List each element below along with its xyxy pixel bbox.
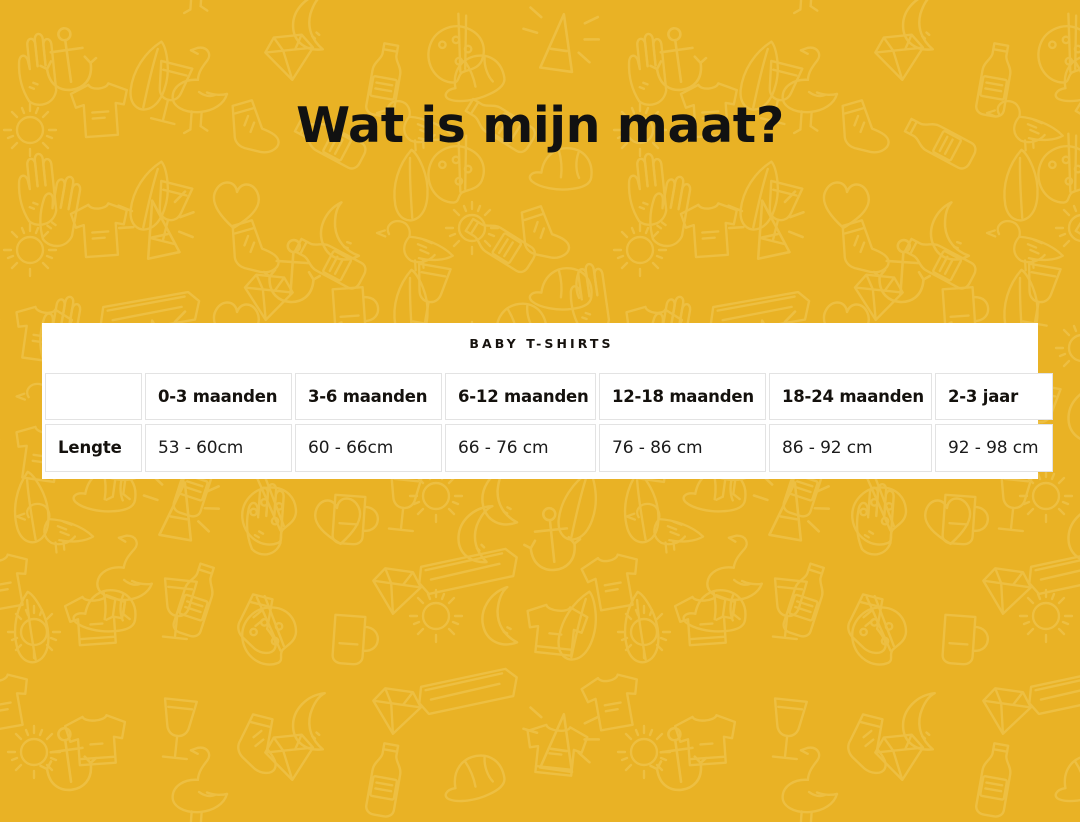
column-header-18-24-maanden: 18-24 maanden: [769, 373, 932, 420]
size-chart-table: 0-3 maanden 3-6 maanden 6-12 maanden 12-…: [42, 369, 1056, 476]
cell-lengte-3-6-maanden: 60 - 66cm: [295, 424, 442, 472]
cell-lengte-12-18-maanden: 76 - 86 cm: [599, 424, 766, 472]
size-chart-caption: BABY T-SHIRTS: [42, 323, 1038, 351]
cell-lengte-2-3-jaar: 92 - 98 cm: [935, 424, 1053, 472]
table-header-row: 0-3 maanden 3-6 maanden 6-12 maanden 12-…: [45, 373, 1053, 420]
cell-lengte-18-24-maanden: 86 - 92 cm: [769, 424, 932, 472]
size-chart-card: BABY T-SHIRTS 0-3 maanden 3-6 maanden 6-…: [42, 323, 1038, 479]
column-header-0-3-maanden: 0-3 maanden: [145, 373, 292, 420]
column-header-12-18-maanden: 12-18 maanden: [599, 373, 766, 420]
size-guide-page: Wat is mijn maat? BABY T-SHIRTS 0-3 maan…: [0, 0, 1080, 822]
table-row: Lengte 53 - 60cm 60 - 66cm 66 - 76 cm 76…: [45, 424, 1053, 472]
cell-lengte-6-12-maanden: 66 - 76 cm: [445, 424, 596, 472]
row-label-lengte: Lengte: [45, 424, 142, 472]
column-header-6-12-maanden: 6-12 maanden: [445, 373, 596, 420]
column-header-2-3-jaar: 2-3 jaar: [935, 373, 1053, 420]
cell-lengte-0-3-maanden: 53 - 60cm: [145, 424, 292, 472]
table-corner-cell: [45, 373, 142, 420]
page-title: Wat is mijn maat?: [0, 99, 1080, 154]
column-header-3-6-maanden: 3-6 maanden: [295, 373, 442, 420]
